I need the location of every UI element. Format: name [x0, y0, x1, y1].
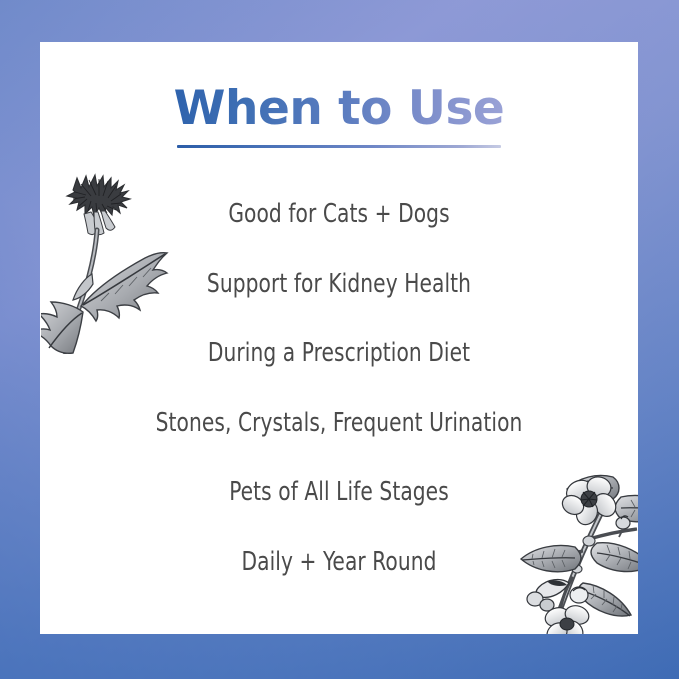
branch-blossom-bottom — [543, 603, 591, 634]
list-item: Stones, Crystals, Frequent Urination — [76, 411, 602, 437]
title-underline-rule — [177, 145, 501, 148]
list-item: During a Prescription Diet — [76, 341, 602, 367]
branch-leaf-lower-right — [579, 583, 632, 616]
branch-bud-center — [570, 587, 588, 603]
benefit-list: Good for Cats + Dogs Support for Kidney … — [40, 202, 638, 575]
title-block: When to Use — [40, 85, 638, 148]
list-item: Good for Cats + Dogs — [76, 202, 602, 228]
list-item: Support for Kidney Health — [76, 272, 602, 298]
page-title: When to Use — [174, 85, 505, 134]
list-item: Daily + Year Round — [76, 550, 602, 576]
content-card: When to Use Good for Cats + Dogs Support… — [40, 42, 638, 634]
list-item: Pets of All Life Stages — [76, 480, 602, 506]
poster-background: When to Use Good for Cats + Dogs Support… — [0, 0, 679, 679]
branch-bud-left — [527, 580, 569, 611]
